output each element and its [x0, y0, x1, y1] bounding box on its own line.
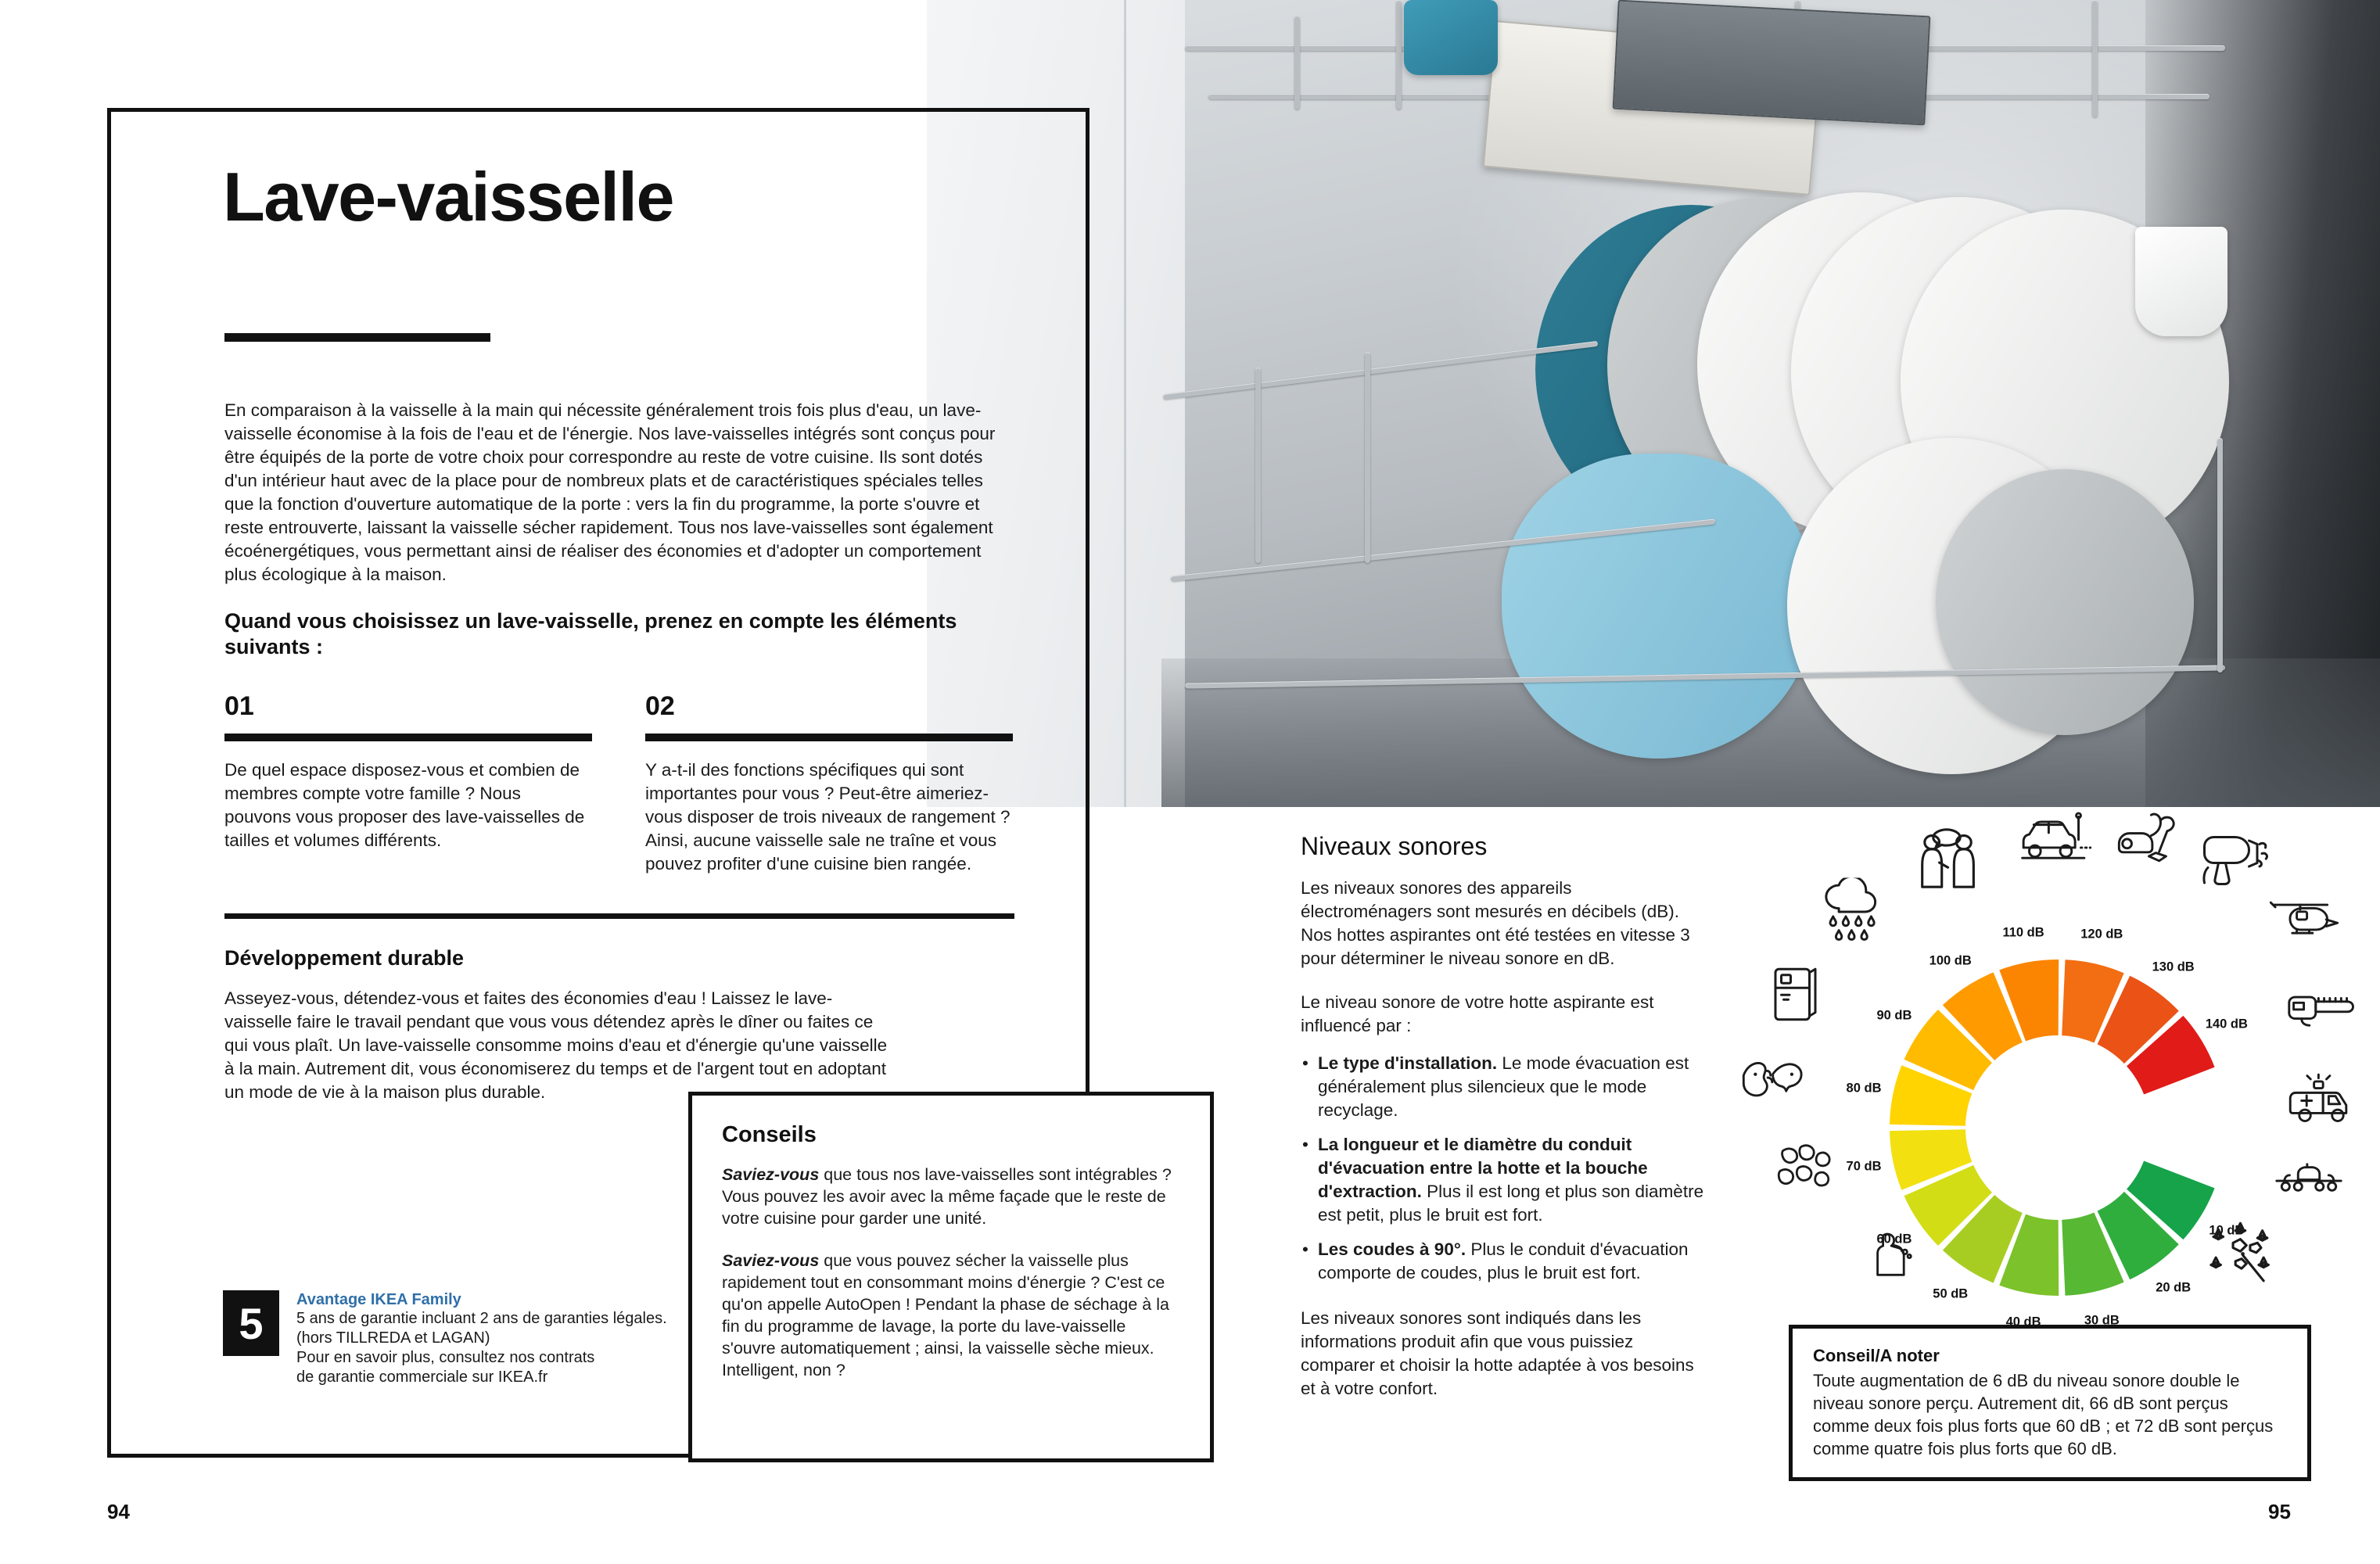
gauge-label-50db: 50 dB [1933, 1286, 1968, 1301]
gauge-label-110db: 110 dB [2002, 925, 2044, 940]
ambulance-icon [2285, 1073, 2358, 1133]
rack-wire [1294, 16, 1300, 109]
list-item: La longueur et le diamètre du conduit d'… [1301, 1133, 1707, 1227]
point-number: 02 [645, 693, 1013, 719]
guarantee-line-1: 5 ans de garantie incluant 2 ans de gara… [296, 1309, 667, 1329]
tip-2-lead: Saviez-vous [722, 1251, 819, 1270]
conseils-box: Conseils Saviez-vous que tous nos lave-v… [688, 1092, 1214, 1462]
gauge-label-20db: 20 dB [2156, 1281, 2191, 1296]
sustainability-text: Asseyez-vous, détendez-vous et faites de… [224, 987, 893, 1104]
hair-dryer-icon [2199, 829, 2269, 892]
conseils-heading: Conseils [722, 1122, 1180, 1148]
breathing-person-icon [1862, 1224, 1917, 1282]
conversation-icon [1919, 825, 1986, 896]
gauge-label-70db: 70 dB [1847, 1160, 1882, 1175]
points-columns: 01 De quel espace disposez-vous et combi… [224, 693, 1014, 876]
guarantee-years-badge: 5 [223, 1290, 279, 1356]
list-item: Les coudes à 90°. Plus le conduit d'évac… [1301, 1238, 1707, 1285]
rack-wire [1255, 368, 1261, 563]
point-text: De quel espace disposez-vous et combien … [224, 759, 592, 852]
intro-paragraph: En comparaison à la vaisselle à la main … [224, 399, 1007, 586]
note-title: Conseil/A noter [1813, 1346, 2287, 1366]
point-rule [645, 734, 1013, 741]
list-item: Le type d'installation. Le mode évacuati… [1301, 1052, 1707, 1122]
chainsaw-icon [2285, 988, 2358, 1034]
noise-paragraph-1: Les niveaux sonores des appareils électr… [1301, 877, 1707, 970]
gauge-label-100db: 100 dB [1929, 954, 1972, 969]
guarantee-line-2: (hors TILLREDA et LAGAN) [296, 1329, 667, 1348]
page-title: Lave-vaisselle [223, 163, 673, 231]
decibel-gauge-diagram: 10 dB20 dB30 dB40 dB50 dB60 dB70 dB80 dB… [1757, 815, 2359, 1300]
point-01: 01 De quel espace disposez-vous et combi… [224, 693, 592, 876]
guarantee-text-block: Avantage IKEA Family 5 ans de garantie i… [296, 1290, 667, 1387]
rack-wire [2092, 0, 2098, 117]
noise-factors-list: Le type d'installation. Le mode évacuati… [1301, 1052, 1707, 1285]
point-02: 02 Y a-t-il des fonctions spécifiques qu… [645, 693, 1013, 876]
point-text: Y a-t-il des fonctions spécifiques qui s… [645, 759, 1013, 876]
conseils-tip-2: Saviez-vous que vous pouvez sécher la va… [722, 1250, 1180, 1381]
gauge-label-90db: 90 dB [1876, 1009, 1912, 1024]
rack-wire [2217, 438, 2223, 673]
guarantee-line-4: de garantie commerciale sur IKEA.fr [296, 1368, 667, 1387]
bullet-1-lead: Le type d'installation. [1318, 1053, 1497, 1073]
guarantee-title: Avantage IKEA Family [296, 1290, 667, 1309]
airplane-icon [2272, 1164, 2346, 1205]
blue-bowl [1502, 454, 1815, 759]
bullet-3-lead: Les coudes à 90°. [1318, 1239, 1466, 1259]
section-divider [224, 913, 1014, 919]
helicopter-icon [2267, 897, 2341, 952]
rack-wire [1396, 0, 1402, 109]
guarantee-line-3: Pour en savoir plus, consultez nos contr… [296, 1348, 667, 1368]
tip-2-rest: que vous pouvez sécher la vaisselle plus… [722, 1251, 1169, 1379]
cutlery-basket-dark [1613, 0, 1931, 125]
whisper-icon [1740, 1059, 1807, 1111]
gauge-label-120db: 120 dB [2080, 927, 2123, 942]
plate-grey-lower [1936, 469, 2194, 735]
page-number-right: 95 [2268, 1500, 2291, 1524]
fireworks-icon [2205, 1218, 2278, 1289]
point-rule [224, 734, 592, 741]
page-number-left: 94 [107, 1500, 130, 1524]
dishwasher-photo [927, 0, 2380, 807]
car-icon [2016, 812, 2091, 868]
title-rule [224, 333, 490, 342]
magazine-spread: Lave-vaisselle En comparaison à la vaiss… [0, 0, 2380, 1564]
gauge-label-130db: 130 dB [2152, 960, 2195, 974]
note-text: Toute augmentation de 6 dB du niveau son… [1813, 1369, 2287, 1460]
sustainability-heading: Développement durable [224, 946, 464, 970]
falling-leaves-icon [1775, 1139, 1836, 1198]
vacuum-cleaner-icon [2113, 808, 2182, 873]
noise-levels-column: Niveaux sonores Les niveaux sonores des … [1301, 832, 1707, 1401]
teal-cup [1404, 0, 1498, 75]
noise-levels-heading: Niveaux sonores [1301, 832, 1707, 861]
refrigerator-icon [1771, 961, 1818, 1032]
gauge-label-80db: 80 dB [1847, 1081, 1882, 1096]
noise-paragraph-2: Le niveau sonore de votre hotte aspirant… [1301, 991, 1707, 1038]
noise-paragraph-3: Les niveaux sonores sont indiqués dans l… [1301, 1307, 1707, 1401]
white-mug [2135, 227, 2227, 336]
point-number: 01 [224, 693, 592, 719]
rain-cloud-icon [1819, 878, 1894, 952]
tip-1-lead: Saviez-vous [722, 1165, 819, 1184]
conseil-a-noter-box: Conseil/A noter Toute augmentation de 6 … [1789, 1325, 2311, 1481]
gauge-label-140db: 140 dB [2206, 1017, 2248, 1032]
choose-subheading: Quand vous choisissez un lave-vaisselle,… [224, 608, 975, 660]
conseils-tip-1: Saviez-vous que tous nos lave-vaisselles… [722, 1164, 1180, 1229]
rack-wire [1365, 352, 1370, 563]
